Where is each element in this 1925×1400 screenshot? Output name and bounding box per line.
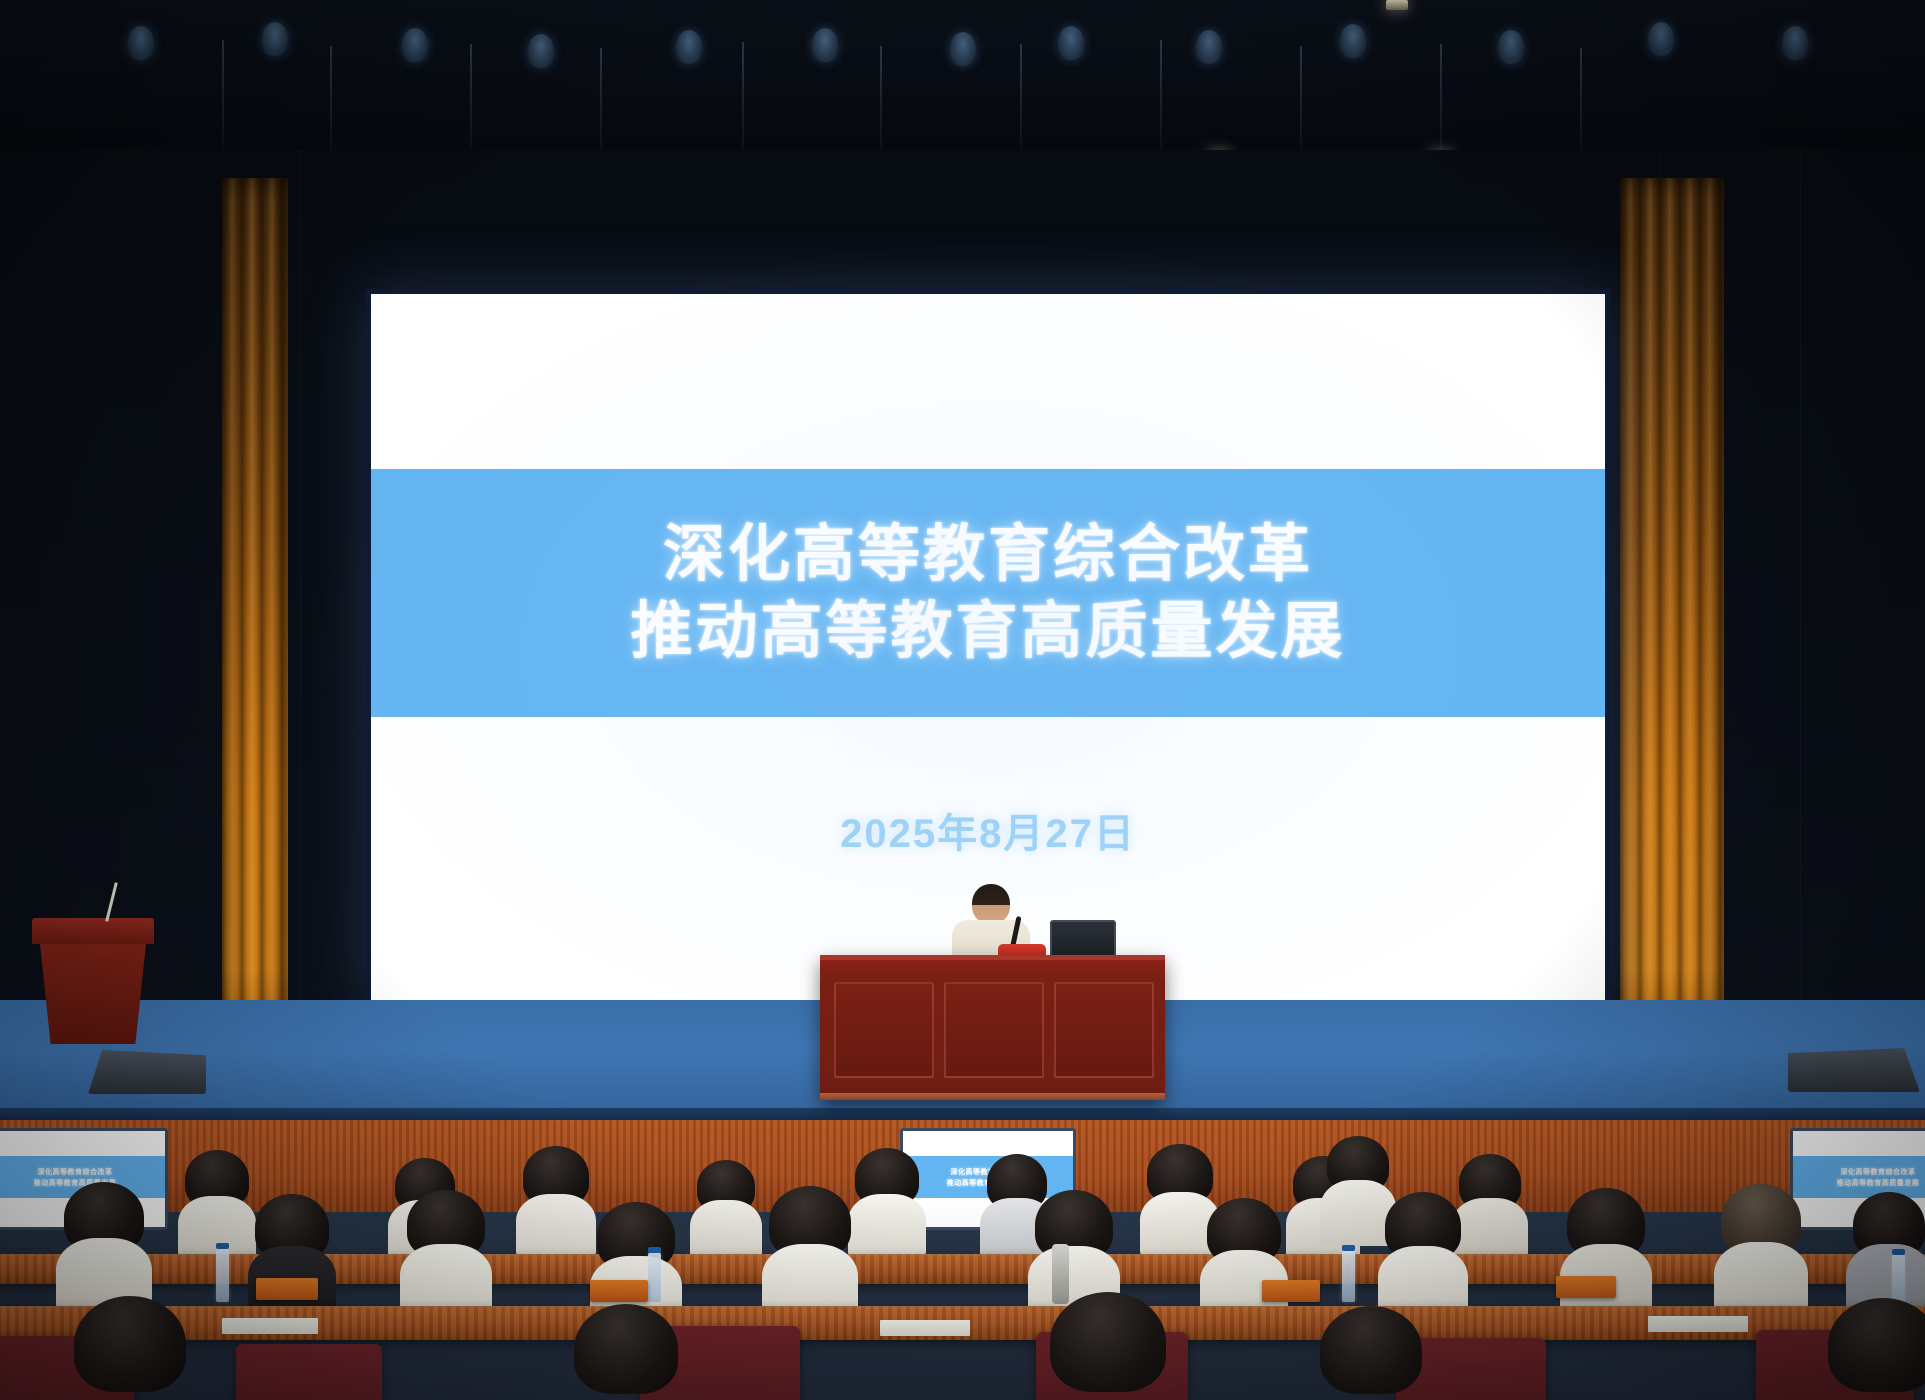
stage-light-icon [1782, 26, 1808, 60]
stage-light-icon [1498, 30, 1524, 64]
table-nameplate [590, 1280, 648, 1302]
head-table [820, 955, 1165, 1100]
stage-light-icon [1340, 24, 1366, 58]
slide-top-whitespace [371, 294, 1605, 469]
audience-member [690, 1160, 762, 1262]
audience-member [66, 1296, 194, 1400]
audience-chair [236, 1344, 382, 1400]
handout-paper [1648, 1316, 1748, 1332]
ceiling-truss [0, 0, 1925, 175]
audience-member [762, 1186, 858, 1320]
stage-curtain-left [222, 178, 288, 1038]
stage-light-icon [1196, 30, 1222, 64]
audience-member [1820, 1298, 1925, 1400]
stage-front-edge [0, 1108, 1925, 1120]
slide-date: 2025年8月27日 [840, 801, 1136, 859]
water-bottle [648, 1252, 661, 1302]
stage-monitor-speaker-right [1788, 1048, 1920, 1092]
stage-monitor-speaker-left [88, 1050, 206, 1094]
audience-member [1042, 1292, 1174, 1400]
stage-light-icon [128, 26, 154, 60]
stage-light-icon [812, 28, 838, 62]
conference-hall-photo: 深化高等教育综合改革 推动高等教育高质量发展 2025年8月27日 [0, 0, 1925, 1400]
handout-paper [880, 1320, 970, 1336]
slide-title-band: 深化高等教育综合改革 推动高等教育高质量发展 [371, 469, 1605, 717]
monitor-line-1: 深化高等教育综合改革 [1841, 1167, 1916, 1177]
stage-light-icon [1648, 22, 1674, 56]
audience-member [400, 1190, 492, 1318]
table-nameplate [1556, 1276, 1616, 1298]
audience-member [848, 1148, 926, 1258]
stage-light-icon [950, 32, 976, 66]
audience-member [1560, 1188, 1652, 1320]
water-bottle [216, 1248, 229, 1302]
table-nameplate [256, 1278, 318, 1300]
audience-member [1312, 1306, 1430, 1400]
audience-area: 深化高等教育综合改革 推动高等教育高质量发展 深化高等教育综合改革 推动高等教育… [0, 1120, 1925, 1400]
lectern [32, 918, 154, 1044]
audience-member [1378, 1192, 1468, 1320]
table-nameplate [1262, 1280, 1320, 1302]
monitor-line-2: 推动高等教育高质量发展 [1837, 1178, 1920, 1188]
stage-light-icon [676, 30, 702, 64]
audience-member [1714, 1184, 1808, 1318]
water-bottle [1342, 1250, 1355, 1302]
monitor-line-1: 深化高等教育综合改革 [38, 1167, 113, 1177]
audience-member [566, 1304, 686, 1400]
audience-member [516, 1146, 596, 1258]
stage-curtain-right [1620, 178, 1724, 1038]
slide-title-line-2: 推动高等教育高质量发展 [630, 595, 1345, 668]
stage-light-icon [528, 34, 554, 68]
audience-member [56, 1182, 152, 1314]
stage-light-icon [262, 22, 288, 56]
stage-light-icon [402, 28, 428, 62]
slide-title-line-1: 深化高等教育综合改革 [663, 518, 1313, 591]
handout-paper [222, 1318, 318, 1334]
water-bottle [1892, 1254, 1905, 1302]
stage-light-icon [1058, 26, 1084, 60]
spotlight-icon [1386, 0, 1408, 10]
